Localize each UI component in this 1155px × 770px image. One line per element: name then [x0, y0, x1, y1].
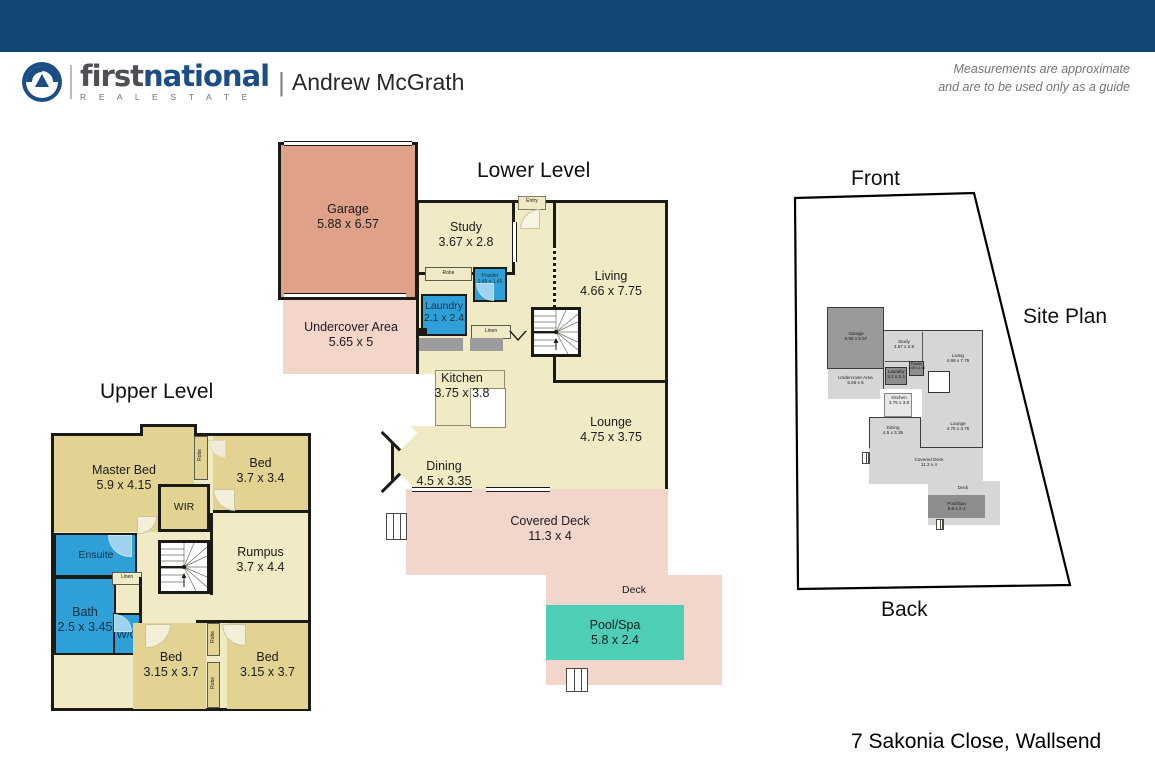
staircase-upper[interactable] — [158, 540, 210, 594]
site-room-garage — [827, 307, 884, 369]
wall-dashed-living — [553, 248, 556, 310]
closet-robe-upper-top — [194, 436, 208, 480]
closet-robe-lower-a — [207, 623, 220, 656]
room-study — [419, 203, 514, 275]
pool-steps — [566, 668, 588, 692]
site-pool-steps — [936, 519, 944, 530]
window-study-side — [512, 222, 517, 262]
cabinetry-band-right — [470, 338, 503, 351]
staircase-winder-icon-upper — [161, 543, 207, 591]
site-room-undercover-area — [828, 365, 883, 399]
wall-upper-hall-vert — [210, 513, 213, 595]
lower-level-title: Lower Level — [477, 159, 590, 183]
staircase-winder-icon — [534, 310, 578, 354]
cabinetry-band-left — [419, 338, 463, 351]
closet-robe-lower-b — [207, 662, 220, 708]
site-room-powder — [909, 361, 924, 376]
garage-door-bottom — [284, 293, 406, 298]
site-mini-plan: Garage5.88 x 6.57 Study3.67 x 2.8 Underc… — [824, 305, 1009, 530]
window-lounge-deck-2 — [486, 487, 550, 492]
chevron-inner — [511, 331, 525, 339]
kitchen-bench-inner — [470, 388, 506, 428]
room-undercover-area — [283, 296, 418, 374]
room-bath — [54, 577, 116, 655]
site-room-study — [885, 332, 923, 362]
laundry-wall-nib — [419, 328, 427, 336]
room-bed-lower-left — [133, 623, 206, 709]
upper-level-title: Upper Level — [100, 380, 213, 404]
window-lounge-deck — [412, 487, 472, 492]
wall-upper-left-vert — [139, 577, 142, 623]
closet-linen-upper — [112, 572, 142, 585]
property-address: 7 Sakonia Close, Wallsend — [851, 730, 1101, 754]
site-room-laundry — [885, 367, 907, 385]
room-laundry — [421, 294, 467, 336]
site-room-pool-spa — [928, 495, 985, 518]
back-label: Back — [881, 598, 928, 622]
site-room-covered-deck — [869, 448, 983, 484]
room-wir — [158, 484, 210, 532]
room-covered-deck — [406, 489, 668, 575]
garage-door-top — [284, 141, 412, 146]
site-staircase[interactable] — [928, 371, 950, 393]
room-garage — [278, 142, 418, 300]
room-pool-spa — [546, 605, 684, 660]
closet-linen-lower — [471, 325, 511, 339]
entry-porch — [518, 196, 546, 210]
site-room-dining — [869, 417, 921, 449]
deck-steps-left — [386, 513, 407, 540]
wall-living-lounge-split — [553, 380, 668, 383]
floorplan-canvas: Lower Level Upper Level Site Plan Front … — [0, 0, 1155, 770]
room-rumpus — [213, 513, 308, 595]
staircase-lower[interactable] — [531, 307, 581, 357]
site-kitchen-bench — [884, 393, 912, 417]
site-deck-steps — [862, 452, 870, 464]
closet-robe-study — [425, 267, 472, 281]
